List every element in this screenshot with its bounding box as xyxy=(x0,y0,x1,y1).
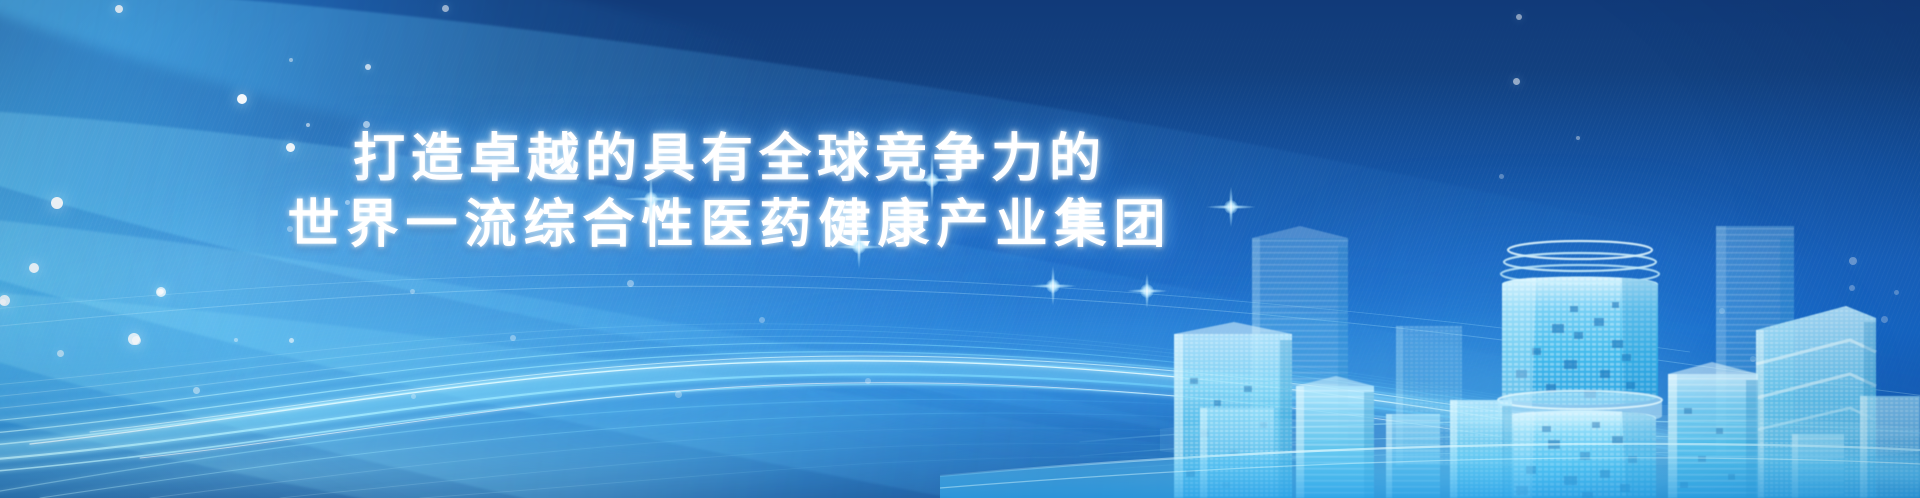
headline-line-1: 打造卓越的具有全球竞争力的 xyxy=(0,126,1460,192)
headline-block: 打造卓越的具有全球竞争力的 世界一流综合性医药健康产业集团 xyxy=(0,126,1460,258)
hero-banner: 打造卓越的具有全球竞争力的 世界一流综合性医药健康产业集团 xyxy=(0,0,1920,498)
headline-line-2: 世界一流综合性医药健康产业集团 xyxy=(0,192,1460,258)
